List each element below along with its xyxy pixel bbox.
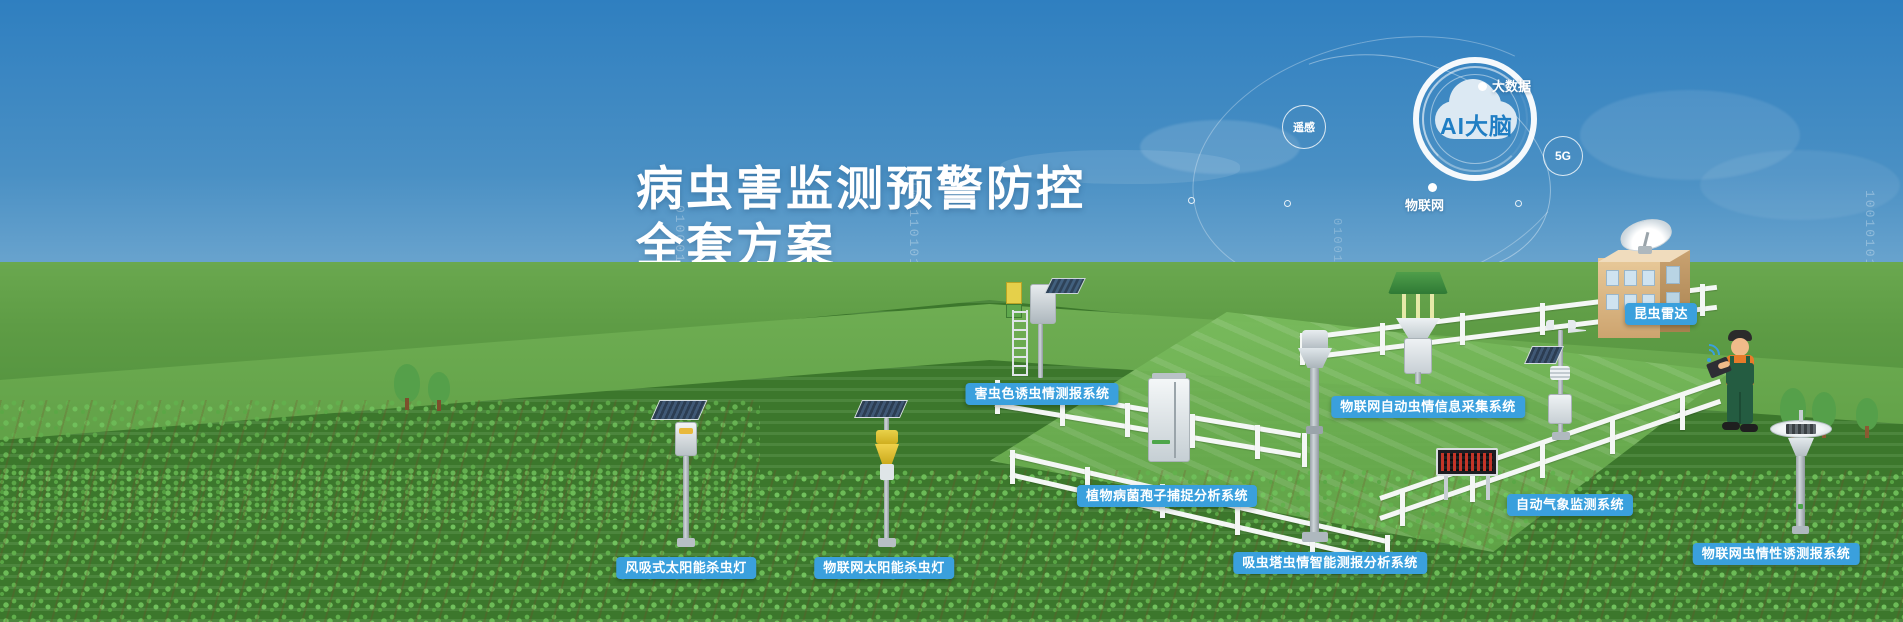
- weather-control-box: [1548, 394, 1572, 424]
- node-big-data[interactable]: 大数据: [1492, 76, 1531, 95]
- fence-post: [1010, 450, 1015, 484]
- collector-canopy: [1388, 272, 1448, 294]
- fence-post: [1610, 420, 1615, 454]
- ai-brain-hub: AI大脑 遥感 5G 大数据 物联网: [1300, 45, 1630, 265]
- node-iot-dot: [1428, 183, 1437, 192]
- label-iot-solar-lamp[interactable]: 物联网太阳能杀虫灯: [814, 557, 954, 579]
- label-iot-auto-pest-info-collection[interactable]: 物联网自动虫情信息采集系统: [1331, 396, 1525, 418]
- farmer-shoe-left: [1722, 422, 1740, 430]
- solar-lamp-icon: [655, 400, 715, 550]
- label-wind-suction-solar-lamp[interactable]: 风吸式太阳能杀虫灯: [616, 557, 756, 579]
- analyzer-top-vent: [1152, 373, 1186, 379]
- weather-base: [1552, 432, 1570, 440]
- farmer-with-tablet: [1710, 330, 1770, 440]
- orbit-endpoint-1: [1188, 197, 1195, 204]
- tower-base: [1302, 532, 1328, 542]
- label-suction-tower-smart-forecast[interactable]: 吸虫塔虫情智能测报分析系统: [1233, 552, 1427, 574]
- farmer-leg-split: [1739, 392, 1741, 424]
- collector-funnel: [1396, 318, 1440, 338]
- infographic-banner: 0100010011010100101 01001101010001101001…: [0, 0, 1903, 622]
- trap-ladder: [1012, 310, 1028, 376]
- lamp-funnel: [875, 444, 899, 464]
- lamp-light-strip: [679, 428, 693, 434]
- pheromone-base: [1792, 526, 1809, 534]
- label-plant-pathogen-spore-capture[interactable]: 植物病菌孢子捕捉分析系统: [1077, 485, 1257, 507]
- tower-cone: [1298, 348, 1332, 368]
- radar-mount: [1638, 246, 1652, 254]
- analyzer-cabinet: [1148, 378, 1190, 462]
- orbit-endpoint-2: [1284, 200, 1291, 207]
- pheromone-green-mark: [1798, 504, 1803, 509]
- tower-head: [1302, 330, 1328, 348]
- analyzer-green-stripe: [1152, 440, 1170, 444]
- solar-panel: [854, 400, 908, 418]
- tree-trunk: [1865, 426, 1869, 438]
- tree-trunk: [405, 398, 409, 410]
- building-window: [1624, 270, 1637, 286]
- building-window: [1666, 266, 1680, 284]
- node-remote-sensing[interactable]: 遥感: [1282, 105, 1326, 149]
- collector-lamp-tube-3: [1430, 294, 1434, 318]
- farmer-strap-l: [1730, 356, 1734, 366]
- lamp-pole: [683, 456, 689, 540]
- pheromone-pole: [1796, 456, 1805, 528]
- solar-lamp-icon: [858, 400, 918, 550]
- spore-analyzer-icon: [1148, 378, 1202, 478]
- led-display-dots: [1441, 453, 1493, 471]
- radiation-shield: [1550, 366, 1570, 380]
- tree-icon: [394, 364, 420, 402]
- fence-post: [1255, 425, 1260, 459]
- trap-solar-panel: [1044, 278, 1086, 294]
- wifi-icon-dot: [1707, 358, 1711, 362]
- farmer-strap-r: [1746, 356, 1750, 366]
- building-window: [1642, 270, 1655, 286]
- tree-trunk: [437, 400, 441, 411]
- fence-post: [1680, 396, 1685, 430]
- lamp-collector: [880, 464, 894, 480]
- collector-lamp-tube-1: [1402, 294, 1406, 318]
- pheromone-trap-icon: [1770, 408, 1840, 538]
- suction-tower-icon: [1292, 330, 1342, 545]
- tower-collar: [1306, 426, 1323, 434]
- led-board-leg-left: [1444, 476, 1448, 500]
- collector-body: [1404, 338, 1432, 374]
- lamp-base: [878, 538, 896, 547]
- building-window: [1606, 294, 1619, 310]
- pheromone-antenna: [1799, 410, 1803, 422]
- led-board-leg-right: [1486, 476, 1490, 500]
- tower-mast: [1310, 368, 1319, 536]
- pest-collector-icon: [1380, 272, 1470, 382]
- node-iot[interactable]: 物联网: [1405, 195, 1444, 214]
- label-insect-radar[interactable]: 昆虫雷达: [1625, 303, 1697, 325]
- label-iot-pheromone-forecast[interactable]: 物联网虫情性诱测报系统: [1693, 543, 1860, 565]
- fence-post: [1125, 403, 1130, 437]
- lamp-head: [876, 430, 898, 444]
- weather-station-icon: [1528, 320, 1598, 470]
- lamp-base: [677, 538, 695, 547]
- headline-line-1: 病虫害监测预警防控: [636, 160, 1086, 217]
- analyzer-door-line: [1174, 382, 1176, 458]
- pheromone-sensor-bar: [1786, 424, 1816, 434]
- collector-pole: [1415, 372, 1421, 384]
- node-5g[interactable]: 5G: [1543, 136, 1583, 176]
- trap-yellow-card: [1006, 282, 1022, 304]
- fence-post: [1400, 492, 1405, 526]
- led-display-board: [1436, 448, 1498, 476]
- collector-lamp-tube-2: [1416, 294, 1420, 318]
- building-window: [1606, 270, 1619, 286]
- pest-trap-icon: [992, 270, 1082, 380]
- trap-pole: [1038, 324, 1043, 378]
- crop-furrows-left: [0, 400, 760, 520]
- orbit-endpoint-3: [1515, 200, 1522, 207]
- pheromone-funnel: [1788, 438, 1814, 456]
- farmer-shoe-right: [1740, 424, 1758, 432]
- label-color-lure-pest-forecast[interactable]: 害虫色诱虫情测报系统: [965, 383, 1118, 405]
- farmer-head: [1731, 338, 1749, 356]
- label-auto-weather-monitoring[interactable]: 自动气象监测系统: [1507, 494, 1633, 516]
- ai-brain-label: AI大脑: [1440, 107, 1513, 141]
- solar-panel: [651, 400, 708, 420]
- wind-vane: [1568, 328, 1586, 333]
- node-big-data-dot: [1478, 82, 1487, 91]
